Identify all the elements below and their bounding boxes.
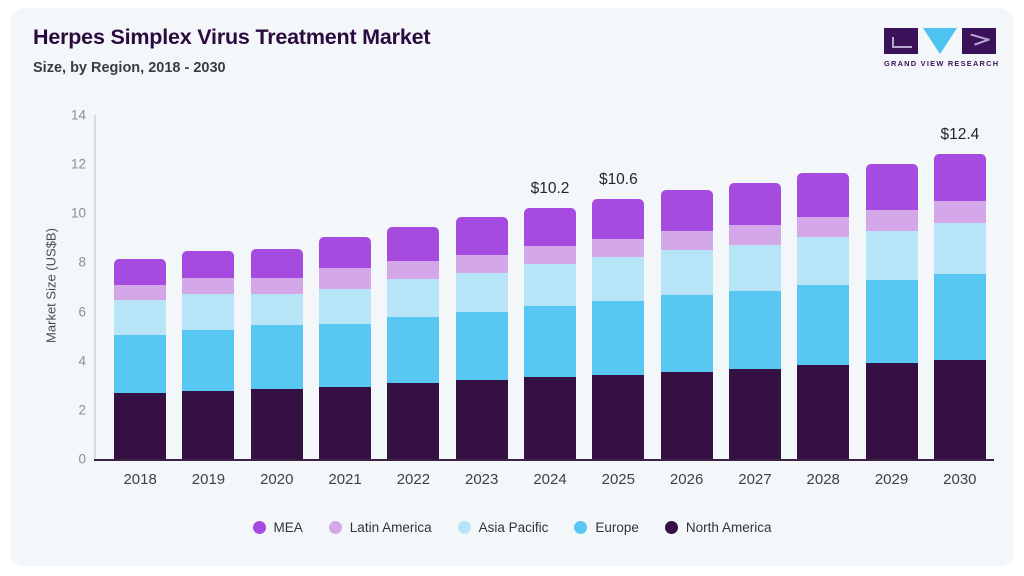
legend-item[interactable]: North America [665,520,772,535]
y-axis-line [94,115,96,459]
legend-item-label: Europe [595,520,639,535]
bar-segment[interactable] [387,317,439,384]
bar-segment[interactable] [524,208,576,246]
bar-segment[interactable] [251,294,303,325]
bar-series-container: $10.2$10.6$12.4 [106,115,994,459]
bar-segment[interactable] [934,274,986,359]
legend-swatch-icon [458,521,471,534]
x-axis-tick-label: 2029 [875,471,908,488]
stacked-bar[interactable] [934,154,986,459]
bar-segment[interactable] [114,285,166,300]
x-axis-tick-label: 2025 [602,471,635,488]
stacked-bar[interactable] [866,164,918,459]
legend-item-label: Asia Pacific [479,520,549,535]
y-axis-title: Market Size (US$B) [44,191,59,381]
bar-segment[interactable] [797,285,849,365]
y-axis-tick-label: 4 [78,353,86,368]
x-axis-tick-label: 2028 [807,471,840,488]
stacked-bar[interactable] [456,217,508,459]
stacked-bar[interactable] [319,237,371,459]
bar-segment[interactable] [387,383,439,459]
bar-segment[interactable] [182,278,234,294]
bar-column[interactable] [243,115,311,459]
bar-column[interactable] [311,115,379,459]
bar-segment[interactable] [319,387,371,459]
bar-column[interactable] [857,115,925,459]
stacked-bar[interactable] [182,251,234,459]
bar-segment[interactable] [251,278,303,294]
page-root: Herpes Simplex Virus Treatment Market Si… [0,0,1024,576]
bar-segment[interactable] [866,280,918,363]
chart-plot: Market Size (US$B) $10.2$10.6$12.4 02468… [10,8,1014,566]
chart-legend: MEALatin AmericaAsia PacificEuropeNorth … [10,520,1014,535]
bar-segment[interactable] [319,237,371,268]
x-axis-tick-label: 2021 [328,471,361,488]
bar-segment[interactable] [524,306,576,377]
bar-segment[interactable] [592,239,644,257]
bar-value-label: $10.6 [599,171,638,189]
stacked-bar[interactable] [797,173,849,459]
bar-segment[interactable] [524,246,576,264]
stacked-bar[interactable] [251,249,303,459]
bar-segment[interactable] [729,245,781,291]
bar-column[interactable] [174,115,242,459]
axis-area: $10.2$10.6$12.4 02468101214 201820192020… [106,115,994,459]
bar-segment[interactable] [729,291,781,370]
bar-segment[interactable] [251,389,303,459]
bar-column[interactable] [653,115,721,459]
bar-segment[interactable] [114,259,166,285]
legend-item[interactable]: Latin America [329,520,432,535]
bar-segment[interactable] [661,190,713,231]
y-axis-tick-label: 14 [71,108,86,123]
bar-segment[interactable] [387,227,439,261]
bar-segment[interactable] [934,201,986,223]
bar-column[interactable]: $12.4 [926,115,994,459]
bar-segment[interactable] [182,251,234,278]
legend-item-label: North America [686,520,772,535]
bar-segment[interactable] [524,377,576,459]
x-axis-tick-label: 2030 [943,471,976,488]
bar-value-label: $12.4 [941,126,980,144]
y-axis-tick-label: 0 [78,452,86,467]
bar-segment[interactable] [797,237,849,285]
bar-segment[interactable] [251,249,303,278]
bar-segment[interactable] [387,279,439,316]
bar-segment[interactable] [456,273,508,312]
legend-item-label: Latin America [350,520,432,535]
bar-segment[interactable] [797,217,849,237]
bar-segment[interactable] [456,312,508,380]
x-axis-tick-label: 2020 [260,471,293,488]
x-axis-tick-label: 2018 [123,471,156,488]
legend-swatch-icon [665,521,678,534]
bar-segment[interactable] [661,295,713,372]
y-axis-tick-label: 10 [71,206,86,221]
bar-segment[interactable] [592,199,644,239]
legend-swatch-icon [329,521,342,534]
legend-item[interactable]: Europe [574,520,639,535]
y-axis-tick-label: 8 [78,255,86,270]
bar-segment[interactable] [729,369,781,459]
bar-segment[interactable] [934,154,986,201]
bar-column[interactable] [721,115,789,459]
y-axis-tick-label: 12 [71,157,86,172]
bar-segment[interactable] [114,335,166,393]
bar-segment[interactable] [319,289,371,324]
stacked-bar[interactable] [387,227,439,459]
bar-segment[interactable] [661,250,713,295]
legend-item[interactable]: Asia Pacific [458,520,549,535]
bar-column[interactable] [448,115,516,459]
bar-column[interactable]: $10.6 [584,115,652,459]
bar-segment[interactable] [592,301,644,375]
stacked-bar[interactable] [114,259,166,459]
legend-swatch-icon [574,521,587,534]
x-axis-tick-label: 2024 [533,471,566,488]
x-axis-tick-label: 2027 [738,471,771,488]
bar-segment[interactable] [182,294,234,330]
bar-segment[interactable] [661,372,713,459]
x-axis-tick-label: 2022 [397,471,430,488]
bar-segment[interactable] [319,324,371,386]
bar-segment[interactable] [319,268,371,289]
bar-segment[interactable] [661,231,713,250]
bar-value-label: $10.2 [531,180,570,198]
bar-column[interactable] [379,115,447,459]
stacked-bar[interactable] [661,190,713,459]
stacked-bar[interactable] [729,183,781,459]
bar-segment[interactable] [729,225,781,245]
y-axis-tick-label: 2 [78,402,86,417]
bar-segment[interactable] [592,375,644,459]
bar-segment[interactable] [592,257,644,301]
bar-segment[interactable] [866,210,918,231]
legend-item-label: MEA [274,520,303,535]
bar-segment[interactable] [797,173,849,217]
bar-segment[interactable] [456,255,508,273]
bar-segment[interactable] [387,261,439,280]
legend-swatch-icon [253,521,266,534]
stacked-bar[interactable] [592,199,644,459]
chart-card: Herpes Simplex Virus Treatment Market Si… [10,8,1014,566]
bar-segment[interactable] [934,223,986,275]
bar-segment[interactable] [182,330,234,391]
x-axis-line [94,459,994,461]
bar-column[interactable] [789,115,857,459]
bar-column[interactable]: $10.2 [516,115,584,459]
bar-segment[interactable] [866,164,918,210]
legend-item[interactable]: MEA [253,520,303,535]
bar-segment[interactable] [797,365,849,459]
bar-segment[interactable] [866,231,918,280]
bar-segment[interactable] [182,391,234,459]
x-axis-tick-label: 2019 [192,471,225,488]
y-axis-tick-label: 6 [78,304,86,319]
x-axis-tick-label: 2023 [465,471,498,488]
bar-segment[interactable] [456,380,508,459]
bar-segment[interactable] [524,264,576,306]
bar-column[interactable] [106,115,174,459]
bar-segment[interactable] [114,393,166,459]
bar-segment[interactable] [866,363,918,459]
bar-segment[interactable] [729,183,781,226]
x-axis-tick-label: 2026 [670,471,703,488]
bar-segment[interactable] [934,360,986,460]
bar-segment[interactable] [251,325,303,389]
bar-segment[interactable] [114,300,166,335]
stacked-bar[interactable] [524,208,576,459]
bar-segment[interactable] [456,217,508,255]
